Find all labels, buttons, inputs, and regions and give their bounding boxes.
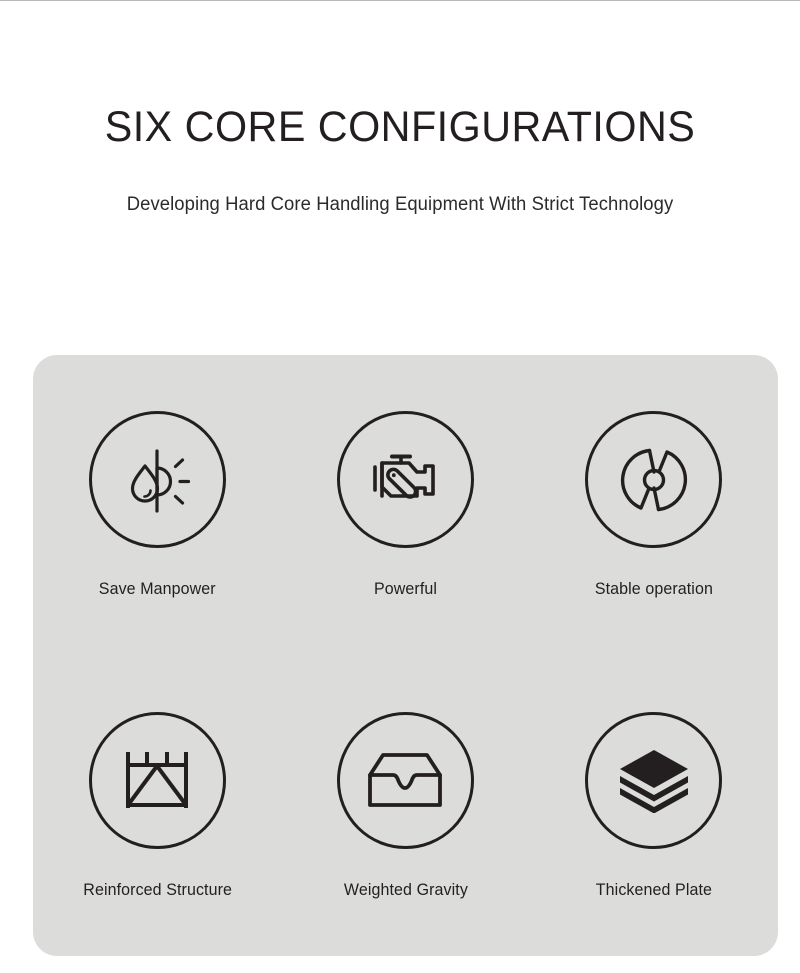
feature-label: Weighted Gravity	[343, 881, 467, 900]
layers-stack-icon	[617, 747, 691, 813]
feature-item-thickened-plate[interactable]: Thickened Plate	[530, 656, 778, 957]
page-title: SIX CORE CONFIGURATIONS	[16, 105, 784, 150]
icon-circle	[89, 712, 226, 849]
icon-circle	[585, 712, 722, 849]
feature-item-reinforced-structure[interactable]: Reinforced Structure	[33, 656, 281, 957]
feature-label: Stable operation	[595, 580, 713, 599]
tray-icon	[365, 747, 445, 813]
truss-frame-icon	[119, 744, 195, 816]
feature-item-weighted-gravity[interactable]: Weighted Gravity	[281, 656, 529, 957]
icon-circle	[337, 411, 474, 548]
feature-label: Powerful	[374, 580, 437, 599]
feature-item-powerful[interactable]: Powerful	[281, 355, 529, 656]
feature-label: Thickened Plate	[596, 881, 712, 900]
icon-circle	[337, 712, 474, 849]
feature-label: Reinforced Structure	[83, 881, 232, 900]
brake-disc-icon	[616, 442, 692, 518]
feature-grid: Save Manpower Powerful	[33, 355, 778, 956]
engine-icon	[365, 444, 445, 516]
water-drop-sun-icon	[118, 441, 196, 519]
page-header: SIX CORE CONFIGURATIONS Developing Hard …	[0, 1, 800, 216]
icon-circle	[585, 411, 722, 548]
page-subtitle: Developing Hard Core Handling Equipment …	[12, 150, 788, 216]
feature-panel: Save Manpower Powerful	[33, 355, 778, 956]
feature-item-stable-operation[interactable]: Stable operation	[530, 355, 778, 656]
feature-item-save-manpower[interactable]: Save Manpower	[33, 355, 281, 656]
icon-circle	[89, 411, 226, 548]
feature-label: Save Manpower	[99, 580, 216, 599]
feature-showcase-page: SIX CORE CONFIGURATIONS Developing Hard …	[0, 0, 800, 973]
